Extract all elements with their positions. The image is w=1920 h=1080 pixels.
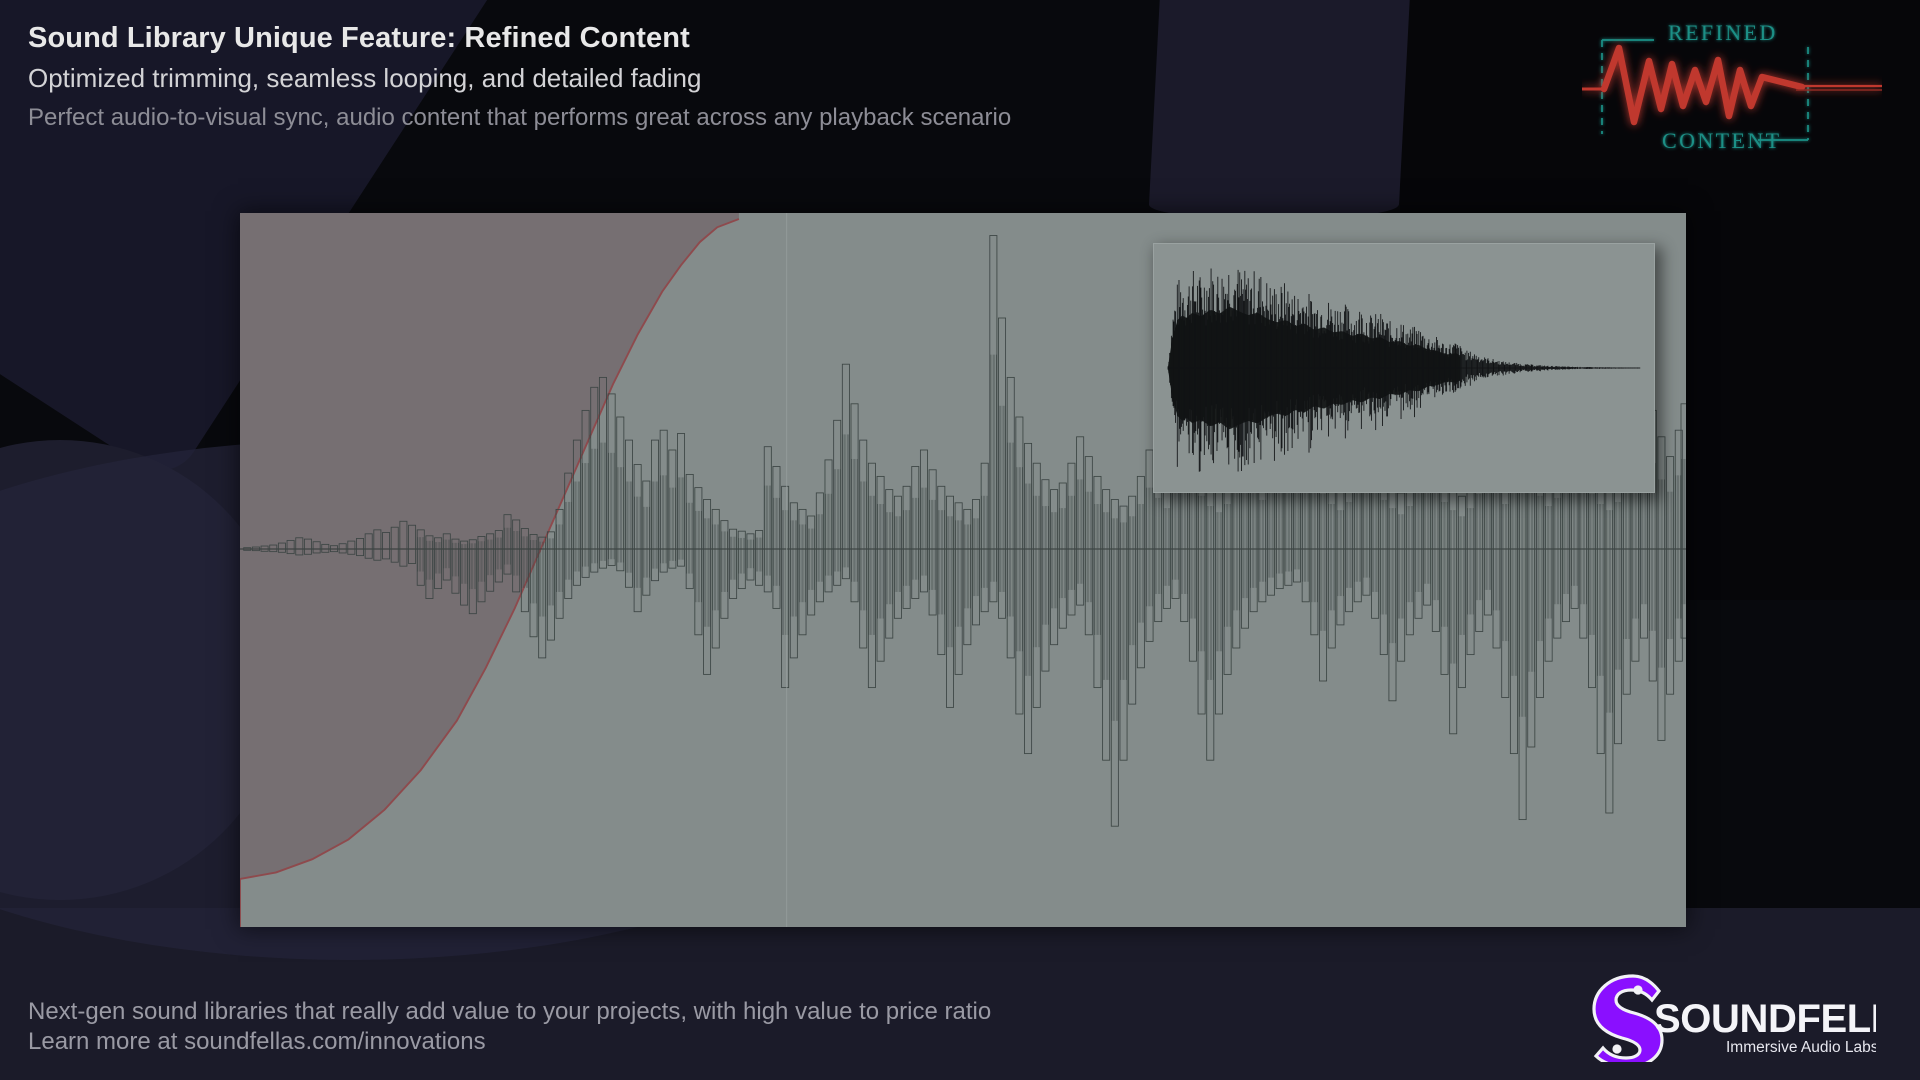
background-vertical-band	[1148, 0, 1412, 220]
footer-line-1: Next-gen sound libraries that really add…	[28, 997, 991, 1028]
brand-mark	[1594, 976, 1662, 1062]
footer-line-2[interactable]: Learn more at soundfellas.com/innovation…	[28, 1027, 991, 1058]
waveform-glyph	[1582, 48, 1882, 122]
logo-line-2: CONTENT	[1662, 128, 1781, 153]
refined-content-logo-graphic: REFINED CONTENT	[1582, 14, 1882, 162]
waveform-detail-inset[interactable]	[1153, 243, 1655, 493]
page-tagline: Perfect audio-to-visual sync, audio cont…	[28, 101, 1011, 136]
footer-text-block: Next-gen sound libraries that really add…	[28, 997, 991, 1058]
logo-line-1: REFINED	[1668, 20, 1778, 45]
refined-content-logo: REFINED CONTENT	[1582, 14, 1882, 162]
header-block: Sound Library Unique Feature: Refined Co…	[28, 20, 1011, 136]
page-title: Sound Library Unique Feature: Refined Co…	[28, 20, 1011, 57]
slide-canvas: Sound Library Unique Feature: Refined Co…	[0, 0, 1920, 1080]
soundfellas-logo-graphic: SOUNDFELLAS Immersive Audio Labs	[1576, 970, 1876, 1062]
soundfellas-logo[interactable]: SOUNDFELLAS Immersive Audio Labs	[1576, 970, 1876, 1062]
page-subtitle: Optimized trimming, seamless looping, an…	[28, 60, 1011, 98]
brand-wordmark: SOUNDFELLAS	[1654, 997, 1876, 1041]
inset-waveform-canvas	[1154, 244, 1654, 492]
brand-tagline: Immersive Audio Labs	[1726, 1039, 1876, 1056]
